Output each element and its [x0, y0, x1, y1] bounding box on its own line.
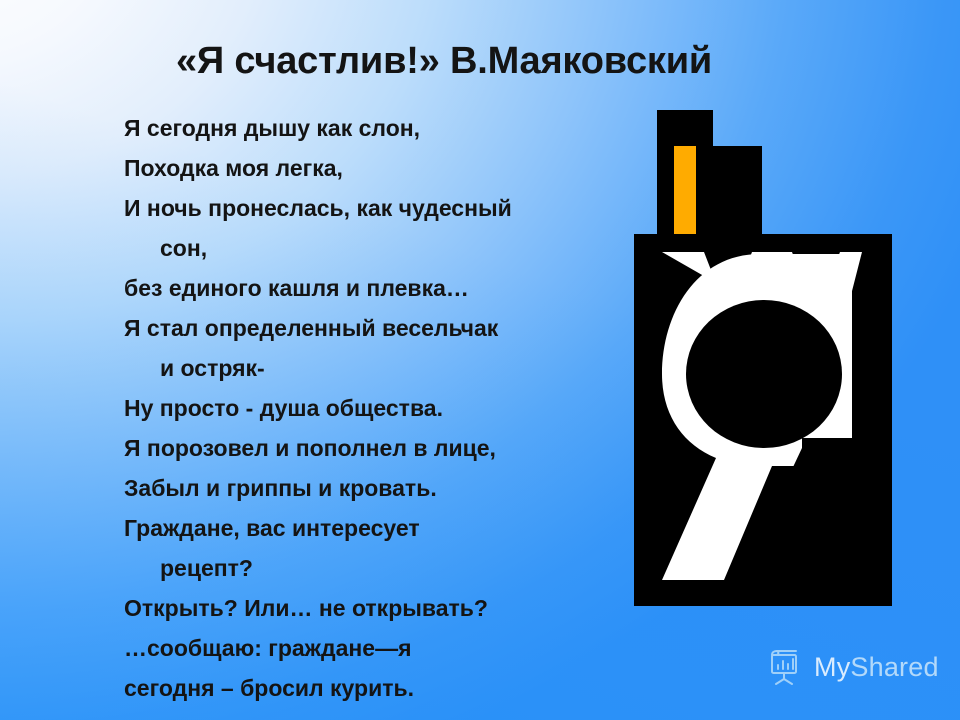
poem-line: И ночь пронеслась, как чудесный [124, 188, 604, 228]
poem-line: Открыть? Или… не открывать? [124, 588, 604, 628]
wordmark-shared: Shared [850, 652, 938, 682]
poem-line: Я порозовел и пополнел в лице, [124, 428, 604, 468]
cigarette-filter-icon [674, 146, 696, 238]
poem-line: …сообщаю: граждане—я [124, 628, 604, 668]
slide: «Я счастлив!» В.Маяковский Я сегодня дыш… [0, 0, 960, 720]
poem-line: рецепт? [124, 548, 604, 588]
poem-body: Я сегодня дышу как слон, Походка моя лег… [124, 108, 604, 708]
poem-line: Я стал определенный весельчак [124, 308, 604, 348]
presentation-easel-icon [766, 648, 806, 686]
cigarette-right-icon [704, 146, 762, 242]
poem-line: сегодня – бросил курить. [124, 668, 604, 708]
cigarette-pack-illustration [634, 110, 892, 606]
letter-ya-glyph [652, 252, 862, 582]
poem-line: Походка моя легка, [124, 148, 604, 188]
poem-line: Я сегодня дышу как слон, [124, 108, 604, 148]
poem-line: Забыл и гриппы и кровать. [124, 468, 604, 508]
myshared-wordmark: MyShared [814, 654, 939, 681]
poem-line: без единого кашля и плевка… [124, 268, 604, 308]
myshared-watermark: MyShared [766, 648, 939, 686]
poem-line: и остряк- [124, 348, 604, 388]
poem-line: Ну просто - душа общества. [124, 388, 604, 428]
poem-line: сон, [124, 228, 604, 268]
poem-line: Граждане, вас интересует [124, 508, 604, 548]
wordmark-my: My [814, 652, 850, 682]
page-title: «Я счастлив!» В.Маяковский [176, 40, 916, 83]
